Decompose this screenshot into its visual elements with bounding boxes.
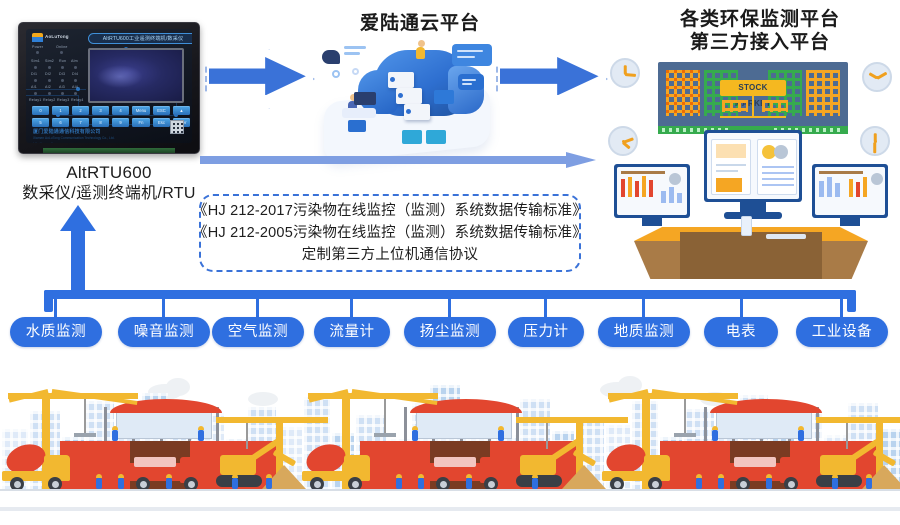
sensor-pill-meter[interactable]: 电表: [704, 317, 778, 347]
side-monitor-left-screen: [617, 167, 687, 215]
flatbed-cargo-1: [134, 457, 176, 467]
sensor-pill-flowmeter[interactable]: 流量计: [314, 317, 390, 347]
server-unit-3: [404, 104, 430, 120]
flatbed-cargo-3: [434, 457, 476, 467]
bus-drop-4: [350, 299, 353, 317]
rtu-device-image: AoLuTong AltRTU600工业遥测终端机/数采仪 Power Onli…: [18, 22, 200, 154]
brand-name: AoLuTong: [45, 35, 69, 40]
key-0[interactable]: 0: [32, 106, 49, 115]
box-icon: [348, 120, 366, 132]
brand-mark-icon: [32, 33, 43, 42]
key-menu[interactable]: Menu: [132, 106, 150, 115]
sensor-pill-geology[interactable]: 地质监测: [598, 317, 690, 347]
sensor-pill-industrial[interactable]: 工业设备: [796, 317, 888, 347]
board-dotgrid-4: [806, 70, 840, 116]
device-keypad[interactable]: 0 1 2 3 4 Menu ESC ▲ 5 6 7 8 9: [32, 106, 192, 130]
keypad-row-2[interactable]: 5 6 7 8 9 Fn Esc Enter: [32, 118, 192, 127]
cloud-puff-2: [248, 392, 278, 406]
road-strip: [0, 507, 900, 511]
keypad-row-1[interactable]: 0 1 2 3 4 Menu ESC ▲: [32, 106, 192, 115]
sensor-pill-noise[interactable]: 噪音监测: [118, 317, 210, 347]
board-dotgrid-1: [666, 70, 700, 116]
arrow-right-to-cloud: [205, 48, 315, 110]
arrow-right-to-platform: [496, 48, 608, 110]
device-tile-2: [426, 130, 446, 144]
arrow-head-icon: [566, 152, 596, 168]
excavator-track-1: [216, 475, 262, 487]
qr-code-icon: [170, 120, 184, 134]
bus-bar-left-cap: [44, 290, 53, 312]
crane-jib-2: [216, 417, 328, 423]
device-brand-logo: AoLuTong: [32, 33, 69, 42]
clock-icon-4: [860, 126, 890, 156]
side-monitor-right-screen: [815, 167, 885, 215]
protocol-line-3: 定制第三方上位机通信协议: [302, 244, 478, 266]
key-5[interactable]: 5: [32, 118, 49, 127]
third-party-title-line2: 第三方接入平台: [620, 31, 900, 54]
pie-chart-icon: [322, 50, 340, 64]
chat-bubble-2: [458, 74, 484, 90]
deco-circle: [332, 70, 340, 78]
rtu-device-group: AoLuTong AltRTU600工业遥测终端机/数采仪 Power Onli…: [18, 22, 200, 204]
construction-city-illustration: [0, 368, 900, 525]
key-3[interactable]: 3: [92, 106, 109, 115]
device-lcd-screen: [88, 48, 184, 103]
infographic-canvas: 爱陆通云平台 各类环保监测平台 第三方接入平台: [0, 0, 900, 525]
key-fn[interactable]: Fn: [132, 118, 150, 127]
cloud-platform-illustration: [318, 42, 496, 160]
laptop-screen-icon: [354, 92, 376, 105]
monitor-base: [724, 212, 782, 219]
data-wall-board: STOCK MARKET: [658, 62, 848, 134]
device-model-banner: AltRTU600工业遥测终端机/数采仪: [88, 33, 192, 44]
stock-market-ticker: STOCK MARKET: [720, 80, 786, 96]
sensor-pill-water-quality[interactable]: 水质监测: [10, 317, 102, 347]
key-9[interactable]: 9: [112, 118, 129, 127]
led-label-power: Power: [32, 45, 43, 49]
bus-drop-9: [840, 299, 843, 317]
device-caption: AltRTU600 数采仪/遥测终端机/RTU: [18, 162, 200, 204]
key-esc[interactable]: ESC: [153, 106, 170, 115]
led-power: [36, 51, 39, 54]
device-subtitle-label: 数采仪/遥测终端机/RTU: [18, 183, 200, 204]
bus-drop-3: [256, 299, 259, 317]
sensor-pill-dust[interactable]: 扬尘监测: [404, 317, 496, 347]
monitoring-platform-illustration: STOCK MARKET: [608, 52, 894, 284]
chat-bubble-1: [452, 44, 492, 66]
control-desk-inner: [680, 232, 822, 279]
bus-drop-5: [448, 299, 451, 317]
crane-jib-4: [816, 417, 900, 423]
key-7[interactable]: 7: [72, 118, 89, 127]
device-model-label: AltRTU600: [18, 162, 200, 183]
key-8[interactable]: 8: [92, 118, 109, 127]
led-online: [60, 51, 63, 54]
device-tile-1: [402, 130, 422, 144]
bus-drop-7: [642, 299, 645, 317]
arrow-up-from-sensors: [60, 205, 96, 293]
server-unit-1: [388, 72, 414, 88]
phone-icon: [741, 216, 752, 236]
protocol-line-1: 《HJ 212-2017污染物在线监控（监测）系统数据传输标准》: [193, 200, 587, 222]
main-monitor-screen: [707, 133, 799, 199]
desk-surface: [342, 108, 376, 118]
excavator-track-3: [516, 475, 562, 487]
main-monitor[interactable]: [704, 130, 802, 202]
flatbed-cargo-2: [734, 457, 776, 467]
key-1[interactable]: 1: [52, 106, 69, 115]
company-website: http://www.altcomm.com: [33, 141, 115, 143]
device-front-panel: AoLuTong AltRTU600工业遥测终端机/数采仪 Power Onli…: [26, 29, 192, 143]
device-terminal-strip: [43, 148, 175, 153]
arrow-direct-transmission: [200, 152, 596, 168]
key-6[interactable]: 6: [52, 118, 69, 127]
side-monitor-left[interactable]: [614, 164, 690, 218]
bus-bar-right-cap: [847, 290, 856, 312]
ticker-base: [720, 116, 786, 118]
protocol-line-2: 《HJ 212-2005污染物在线监控（监测）系统数据传输标准》: [193, 222, 587, 244]
server-unit-2: [396, 88, 422, 104]
bus-drop-2: [162, 299, 165, 317]
side-monitor-right[interactable]: [812, 164, 888, 218]
clock-icon-2: [608, 126, 638, 156]
crane-cable-1: [84, 399, 86, 433]
crane-hook-2: [674, 433, 696, 437]
device-company-text: 厦门爱陆通通信科技有限公司 Xiamen AoLuTong Communicat…: [33, 129, 115, 143]
crane-hook-1: [74, 433, 96, 437]
third-party-title: 各类环保监测平台 第三方接入平台: [620, 8, 900, 54]
key-4[interactable]: 4: [112, 106, 129, 115]
keyboard-icon: [766, 234, 806, 239]
bus-drop-8: [740, 299, 743, 317]
third-party-title-line1: 各类环保监测平台: [620, 8, 900, 31]
arrow-up-stem: [71, 227, 85, 293]
chart-panel-right: [757, 139, 797, 195]
ticker-stem: [752, 96, 754, 118]
sensor-pill-pressure[interactable]: 压力计: [508, 317, 584, 347]
chip-icon: [434, 90, 454, 104]
clock-icon-3: [862, 62, 892, 92]
crane-jib-6: [516, 417, 628, 423]
sensor-pill-air[interactable]: 空气监测: [212, 317, 304, 347]
bus-drop-1: [54, 299, 57, 317]
key-esc2[interactable]: Esc: [153, 118, 170, 127]
key-2[interactable]: 2: [72, 106, 89, 115]
crane-hook-3: [374, 433, 396, 437]
cloud-platform-title: 爱陆通云平台: [300, 12, 540, 35]
led-label-online: Online: [56, 45, 68, 49]
person-on-cloud: [416, 40, 425, 59]
excavator-track-2: [816, 475, 862, 487]
bus-drop-6: [544, 299, 547, 317]
sensor-bus-bar: [44, 290, 856, 299]
clock-icon-1: [610, 58, 640, 88]
key-up[interactable]: ▲: [173, 106, 190, 115]
arrow-shaft: [200, 156, 568, 164]
chart-panel-left: [711, 139, 751, 195]
protocol-standards-box: 《HJ 212-2017污染物在线监控（监测）系统数据传输标准》 《HJ 212…: [199, 194, 581, 272]
